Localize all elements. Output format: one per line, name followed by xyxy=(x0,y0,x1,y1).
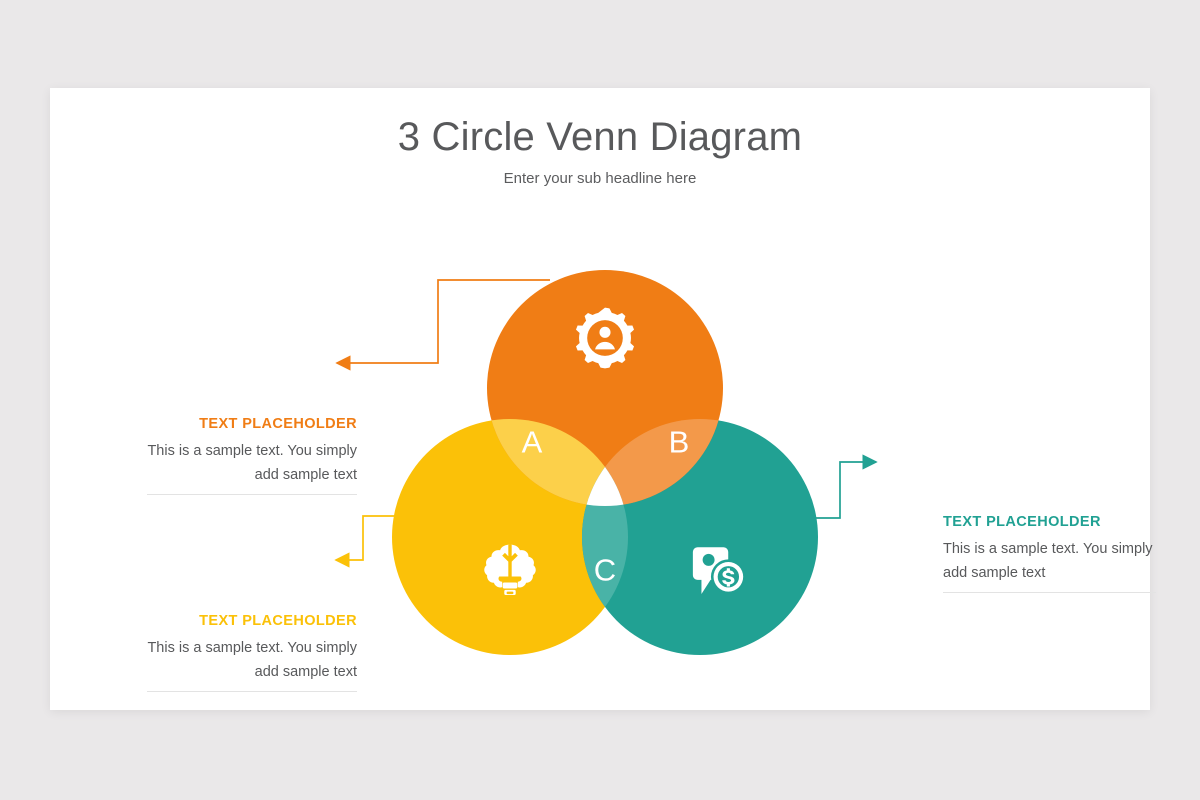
callout-orange-heading: TEXT PLACEHOLDER xyxy=(147,414,357,436)
callout-teal[interactable]: TEXT PLACEHOLDER This is a sample text. … xyxy=(943,512,1156,593)
callout-yellow[interactable]: TEXT PLACEHOLDER This is a sample text. … xyxy=(147,611,357,692)
callout-teal-heading: TEXT PLACEHOLDER xyxy=(943,512,1156,534)
callout-yellow-heading: TEXT PLACEHOLDER xyxy=(147,611,357,633)
callout-orange-divider xyxy=(147,494,357,495)
callout-yellow-divider xyxy=(147,691,357,692)
page-title: 3 Circle Venn Diagram xyxy=(50,115,1150,160)
callout-orange-body: This is a sample text. You simply add sa… xyxy=(147,439,357,488)
page-subtitle: Enter your sub headline here xyxy=(50,170,1150,187)
callout-orange[interactable]: TEXT PLACEHOLDER This is a sample text. … xyxy=(147,414,357,495)
venn-diagram: A B C xyxy=(392,270,817,655)
overlap-label-c: C xyxy=(594,553,616,588)
overlap-label-a: A xyxy=(522,425,543,460)
callout-teal-divider xyxy=(943,592,1156,593)
callout-yellow-body: This is a sample text. You simply add sa… xyxy=(147,636,357,685)
callout-teal-body: This is a sample text. You simply add sa… xyxy=(943,537,1156,586)
overlap-label-b: B xyxy=(669,425,690,460)
slide-canvas: 3 Circle Venn Diagram Enter your sub hea… xyxy=(50,88,1150,710)
